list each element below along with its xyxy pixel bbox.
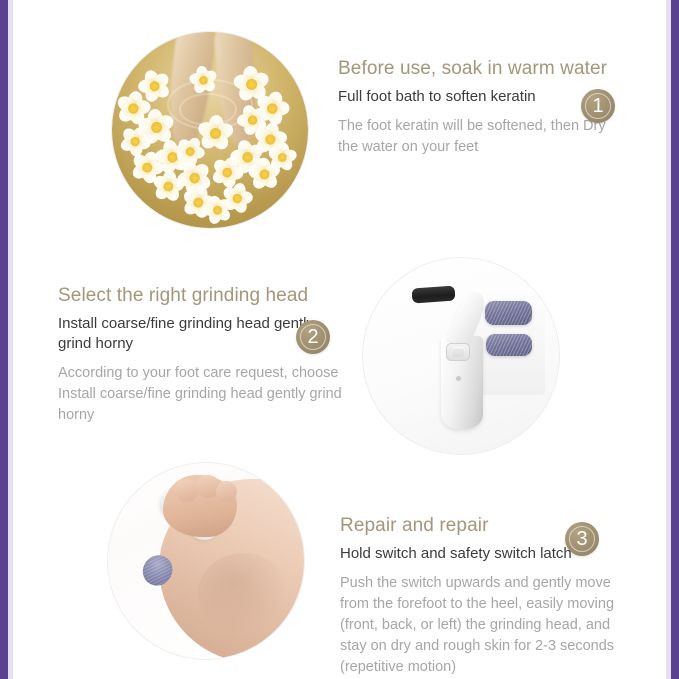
step-1-body: The foot keratin will be softened, then … bbox=[338, 116, 620, 158]
plumeria-flower bbox=[267, 142, 297, 172]
step-2-text-block: Select the right grinding head Install c… bbox=[58, 283, 342, 426]
photo3-inner bbox=[108, 463, 304, 659]
coarse-grinding-roller bbox=[485, 301, 532, 325]
step-1-heading: Before use, soak in warm water bbox=[338, 56, 620, 81]
plumeria-flower bbox=[188, 65, 219, 96]
step-3-number-badge: 3 bbox=[565, 522, 599, 556]
step-1-subtitle: Full foot bath to soften keratin bbox=[338, 87, 620, 107]
device-power-switch bbox=[446, 343, 470, 361]
photo1-inner bbox=[112, 32, 308, 228]
left-border-soft bbox=[8, 0, 13, 679]
feet-soaking-in-flower-water-photo bbox=[104, 24, 316, 236]
using-foot-file-on-heel-photo bbox=[100, 455, 312, 667]
instruction-infographic: Before use, soak in warm water Full foot… bbox=[0, 0, 679, 679]
step-2-number: 2 bbox=[307, 326, 318, 348]
device-indicator-dot bbox=[456, 376, 461, 381]
step-1-number: 1 bbox=[592, 95, 603, 117]
step-2-body: According to your foot care request, cho… bbox=[58, 363, 342, 426]
left-purple-border bbox=[0, 0, 16, 679]
left-border-main bbox=[0, 0, 8, 679]
photo2-inner bbox=[363, 258, 559, 454]
step-2-number-badge: 2 bbox=[296, 320, 330, 354]
fine-grinding-roller bbox=[486, 334, 531, 356]
step-1-number-badge: 1 bbox=[581, 89, 615, 123]
step-3-body: Push the switch upwards and gently move … bbox=[340, 573, 628, 678]
foot-file-device-and-grinding-heads-photo bbox=[355, 250, 567, 462]
right-border-main bbox=[671, 0, 679, 679]
step-2-heading: Select the right grinding head bbox=[58, 283, 342, 308]
step-1-text-block: Before use, soak in warm water Full foot… bbox=[338, 56, 620, 158]
right-border-soft bbox=[666, 0, 671, 679]
step-3-number: 3 bbox=[576, 528, 587, 550]
right-purple-border bbox=[663, 0, 679, 679]
